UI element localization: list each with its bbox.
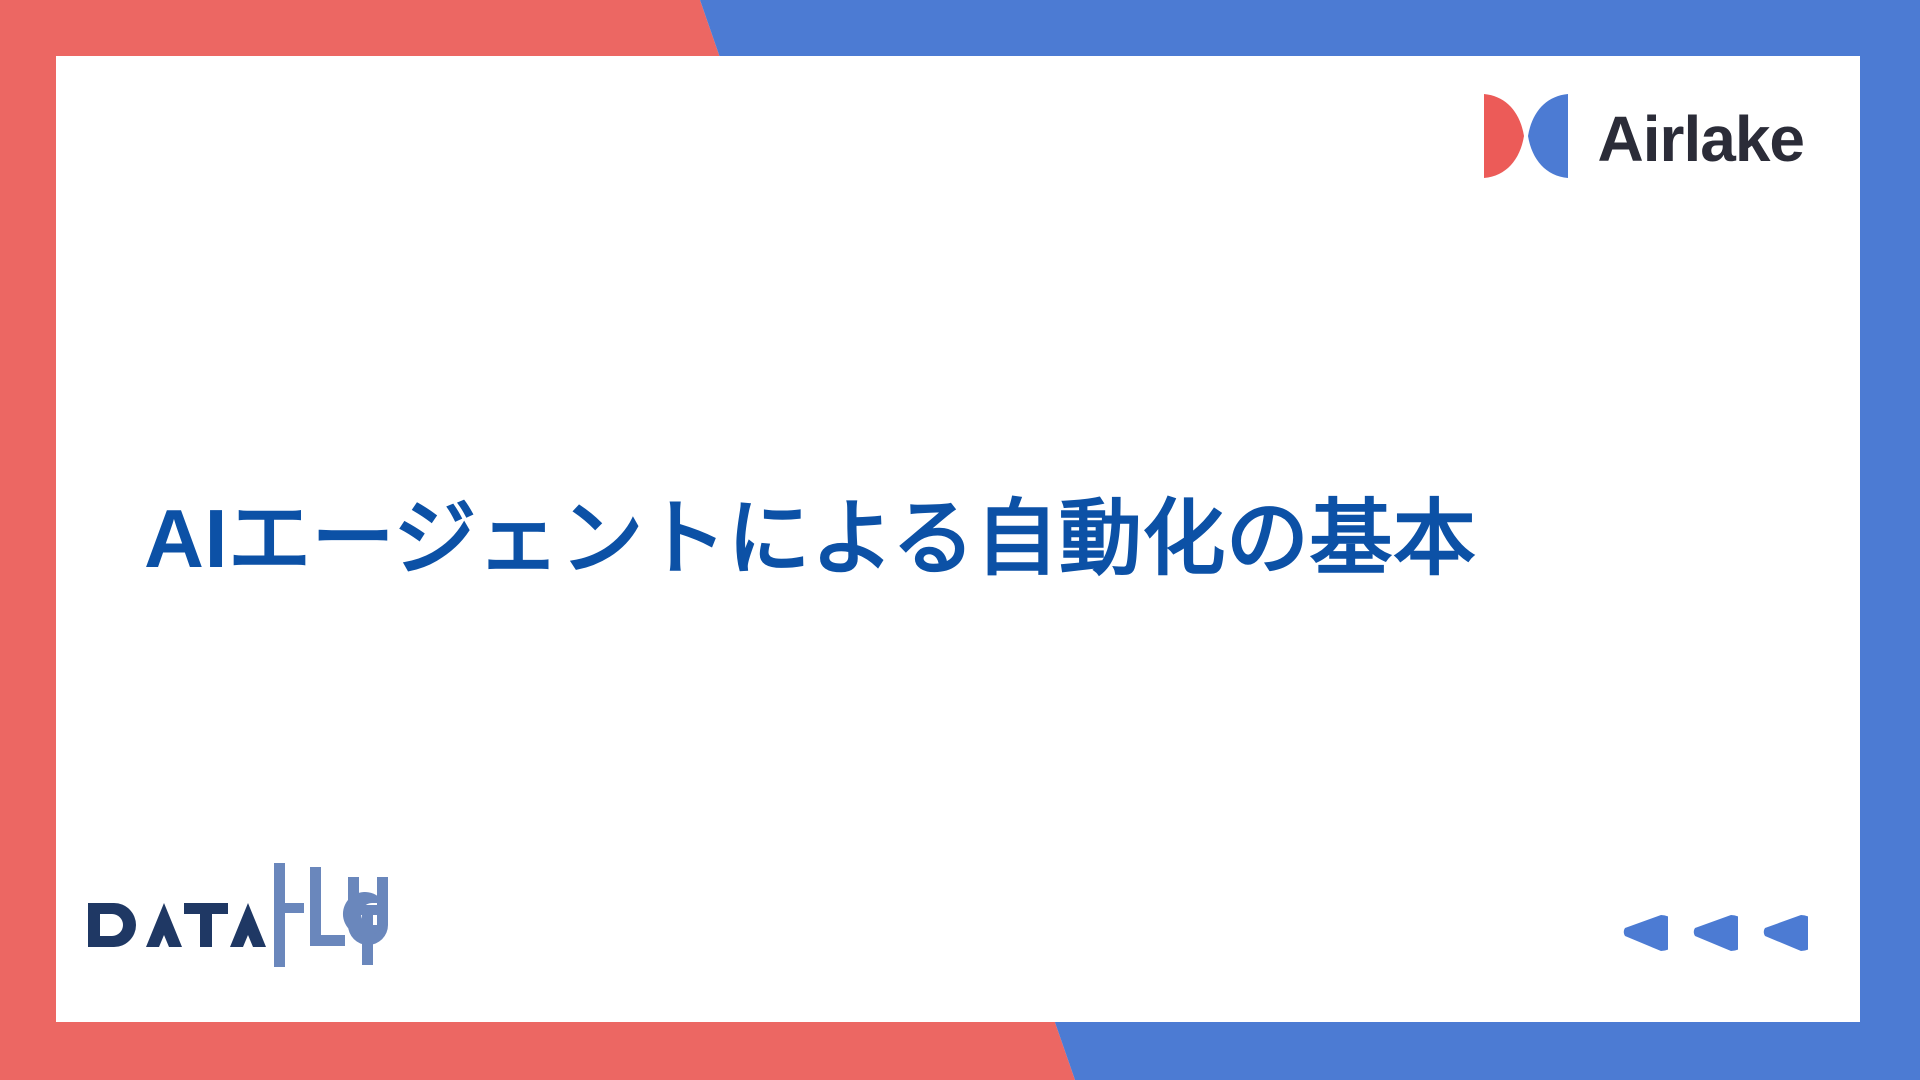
datafluct-logo-icon — [78, 851, 388, 971]
triangle-left-icon-1 — [1612, 905, 1668, 966]
title-block: AIエージェントによる自動化の基本 — [144, 56, 1800, 1022]
slide-title: AIエージェントによる自動化の基本 — [144, 487, 1476, 591]
datafluct-logo: DATAFLUCT — [78, 851, 388, 976]
slide-content-card: Airlake AIエージェントによる自動化の基本 DATAFLUCT — [56, 56, 1860, 1022]
triangle-left-icon-2 — [1682, 905, 1738, 966]
triangle-decoration-group — [1612, 905, 1808, 966]
triangle-left-icon-3 — [1752, 905, 1808, 966]
slide-canvas: Airlake AIエージェントによる自動化の基本 DATAFLUCT — [0, 0, 1920, 1080]
